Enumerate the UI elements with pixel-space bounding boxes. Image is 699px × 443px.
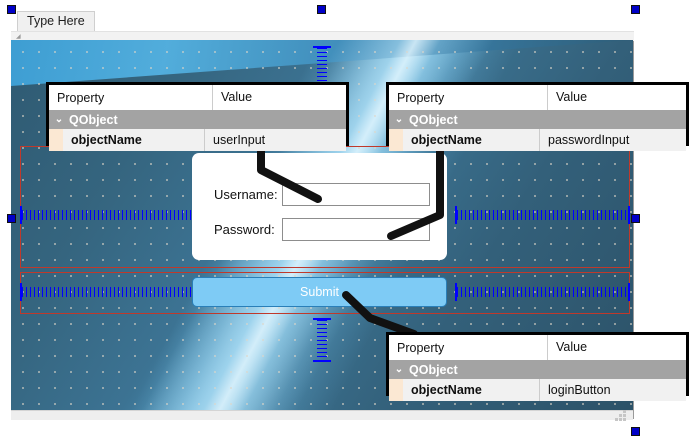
property-group-label: QObject <box>409 363 458 377</box>
chevron-down-icon[interactable]: ⌄ <box>389 114 409 125</box>
password-label: Password: <box>214 222 282 237</box>
property-group-label: QObject <box>69 113 118 127</box>
spacer-coil <box>457 287 628 297</box>
property-group-qobject[interactable]: ⌄ QObject <box>389 110 686 129</box>
username-input[interactable] <box>282 183 430 206</box>
property-value[interactable]: userInput <box>204 129 346 151</box>
menu-type-here[interactable]: Type Here <box>17 11 95 32</box>
property-callout-passwordinput[interactable]: Property Value ⌄ QObject objectName pass… <box>386 82 689 146</box>
spacer-horizontal-right-lower[interactable] <box>455 283 630 301</box>
selection-handle-middle-right[interactable] <box>631 214 640 223</box>
row-indent-marker <box>49 129 63 151</box>
selection-handle-bottom-right[interactable] <box>631 427 640 436</box>
submit-button[interactable]: Submit <box>192 277 447 307</box>
property-name: objectName <box>63 129 204 151</box>
property-callout-userinput[interactable]: Property Value ⌄ QObject objectName user… <box>46 82 349 146</box>
chevron-down-icon[interactable]: ⌄ <box>49 114 69 125</box>
property-table-header: Property Value <box>389 335 686 360</box>
property-name: objectName <box>403 379 539 401</box>
spacer-cap-right <box>628 206 630 224</box>
property-callout-loginbutton[interactable]: Property Value ⌄ QObject objectName logi… <box>386 332 689 396</box>
spacer-coil <box>22 287 202 297</box>
spacer-coil <box>457 210 628 220</box>
property-table-header: Property Value <box>49 85 346 110</box>
status-bar <box>11 410 633 420</box>
header-value: Value <box>547 335 694 360</box>
spacer-horizontal-right-upper[interactable] <box>455 206 630 224</box>
selection-handle-top-left[interactable] <box>7 5 16 14</box>
selection-handle-top-center[interactable] <box>317 5 326 14</box>
property-group-qobject[interactable]: ⌄ QObject <box>49 110 346 129</box>
header-property: Property <box>389 91 547 105</box>
spacer-cap-right <box>628 283 630 301</box>
property-value[interactable]: passwordInput <box>539 129 686 151</box>
header-value: Value <box>212 85 354 110</box>
username-row: Username: <box>214 181 430 207</box>
toolbar-grip-icon: ◢ <box>16 35 20 39</box>
property-name: objectName <box>403 129 539 151</box>
row-indent-marker <box>389 129 403 151</box>
login-card[interactable]: Username: Password: <box>192 153 447 260</box>
property-row-objectname[interactable]: objectName passwordInput <box>389 129 686 151</box>
row-indent-marker <box>389 379 403 401</box>
chevron-down-icon[interactable]: ⌄ <box>389 364 409 375</box>
header-value: Value <box>547 85 694 110</box>
username-label: Username: <box>214 187 282 202</box>
spacer-coil <box>22 210 202 220</box>
property-row-objectname[interactable]: objectName loginButton <box>389 379 686 401</box>
spacer-cap-bottom <box>313 360 331 362</box>
header-property: Property <box>49 91 212 105</box>
spacer-horizontal-left-upper[interactable] <box>20 206 204 224</box>
selection-handle-top-right[interactable] <box>631 5 640 14</box>
header-property: Property <box>389 341 547 355</box>
spacer-coil <box>317 320 327 360</box>
spacer-vertical-bottom[interactable] <box>313 318 331 362</box>
selection-handle-middle-left[interactable] <box>7 214 16 223</box>
property-table-header: Property Value <box>389 85 686 110</box>
property-row-objectname[interactable]: objectName userInput <box>49 129 346 151</box>
password-input[interactable] <box>282 218 430 241</box>
designer-canvas: Type Here ◢ <box>0 0 699 443</box>
property-value[interactable]: loginButton <box>539 379 686 401</box>
property-group-label: QObject <box>409 113 458 127</box>
spacer-horizontal-left-lower[interactable] <box>20 283 204 301</box>
size-grip-icon[interactable] <box>614 411 626 421</box>
password-row: Password: <box>214 216 430 242</box>
property-group-qobject[interactable]: ⌄ QObject <box>389 360 686 379</box>
